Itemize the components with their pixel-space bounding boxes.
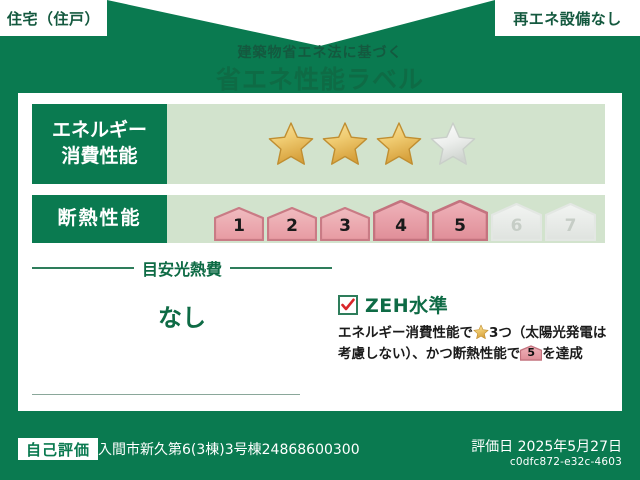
document-id: c0dfc872-e32c-4603 (510, 456, 622, 468)
star-icon-filled-3 (375, 120, 423, 168)
label-subtitle: 建築物省エネ法に基づく (0, 42, 640, 62)
thermal-level-4: 4 (373, 200, 429, 241)
zeh-desc-part1: エネルギー消費性能で (338, 325, 473, 341)
roof-shape (107, 0, 495, 46)
star-icon-filled-1 (267, 120, 315, 168)
self-evaluation-badge: 自己評価 (18, 438, 98, 460)
zeh-title-text: ZEH水準 (365, 291, 448, 318)
thermal-level-scale: 1 2 3 4 (214, 197, 582, 241)
house-icon-inline-number: 5 (520, 344, 542, 361)
star-icon-filled-2 (321, 120, 369, 168)
thermal-level-2-number: 2 (267, 216, 317, 236)
label-main-panel: エネルギー 消費性能 (18, 93, 622, 411)
renewable-energy-tag: 再エネ設備なし (495, 0, 640, 36)
zeh-title-row: ZEH水準 (338, 291, 610, 318)
thermal-performance-label-box: 断熱性能 (32, 195, 167, 243)
energy-star-rating (267, 109, 477, 179)
energy-label-line2: 消費性能 (61, 145, 137, 167)
zeh-description: エネルギー消費性能で3つ（太陽光発電は考慮しない）、かつ断熱性能で5を達成 (338, 323, 610, 365)
zeh-standard-block: ZEH水準 エネルギー消費性能で3つ（太陽光発電は考慮しない）、かつ断熱性能で5… (338, 291, 610, 365)
thermal-level-1-number: 1 (214, 216, 264, 236)
thermal-level-6: 6 (491, 203, 542, 241)
building-type-tag: 住宅（住戸） (0, 0, 107, 36)
thermal-level-5-number: 5 (432, 216, 488, 236)
energy-performance-label: 住宅（住戸） 再エネ設備なし 建築物省エネ法に基づく 省エネ性能ラベル エネルギ… (0, 0, 640, 480)
zeh-desc-star-count: 3つ（太陽光発電 (489, 325, 593, 341)
thermal-level-4-number: 4 (373, 216, 429, 236)
zeh-checkbox-checked (338, 295, 358, 315)
utility-cost-heading-text: 目安光熱費 (142, 256, 222, 280)
star-icon-empty-4 (429, 120, 477, 168)
thermal-level-7: 7 (545, 203, 596, 241)
heading-rule-right (230, 267, 332, 269)
evaluation-date: 評価日 2025年5月27日 (471, 436, 622, 456)
label-title: 省エネ性能ラベル (0, 60, 640, 96)
thermal-level-2: 2 (267, 207, 317, 241)
house-icon-inline: 5 (520, 345, 542, 361)
thermal-level-7-number: 7 (545, 216, 596, 236)
thermal-level-6-number: 6 (491, 216, 542, 236)
utility-cost-divider (32, 394, 300, 395)
energy-performance-label-box: エネルギー 消費性能 (32, 104, 167, 184)
zeh-desc-part3: を達成 (542, 346, 583, 362)
thermal-level-3: 3 (320, 207, 370, 241)
thermal-level-5: 5 (432, 200, 488, 241)
utility-cost-heading: 目安光熱費 (32, 256, 332, 280)
star-icon-inline (473, 324, 489, 340)
heading-rule-left (32, 267, 134, 269)
thermal-level-3-number: 3 (320, 216, 370, 236)
energy-label-line1: エネルギー (52, 119, 147, 141)
utility-cost-value: なし (32, 298, 332, 333)
property-address: 入間市新久第6(3棟)3号棟24868600300 (98, 440, 360, 460)
thermal-level-1: 1 (214, 207, 264, 241)
